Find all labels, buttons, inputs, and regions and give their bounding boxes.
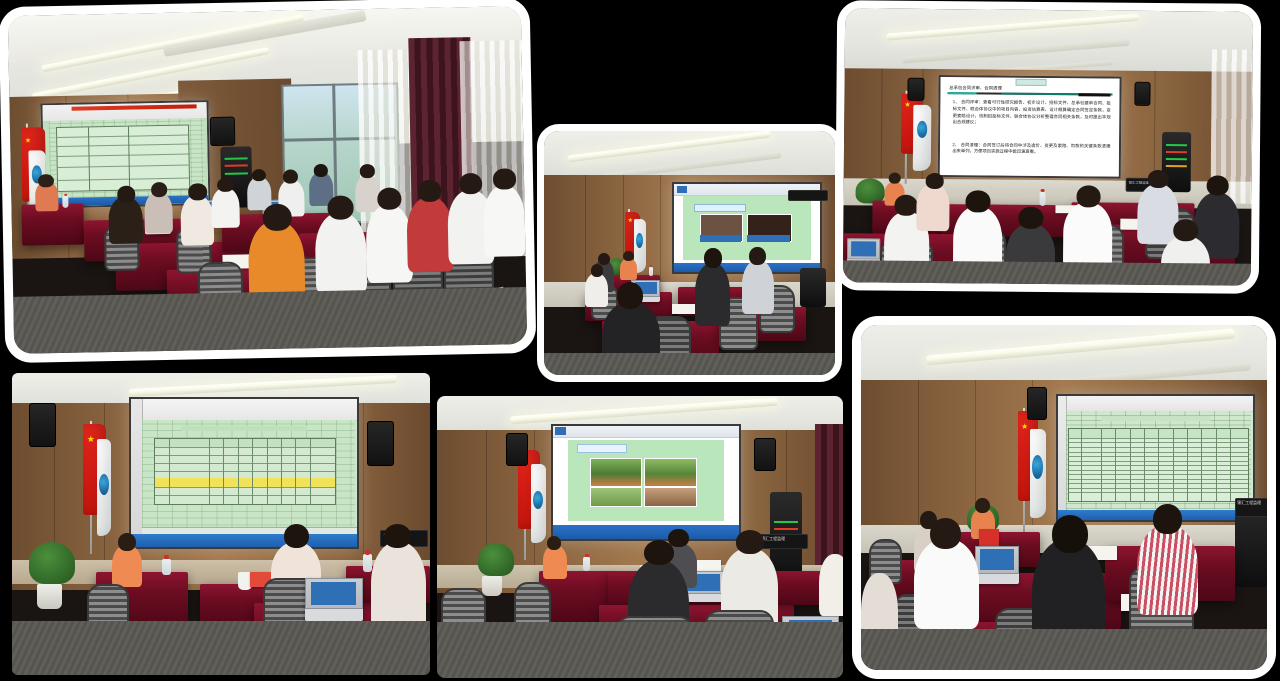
photo-caption-4: 屏幕展示工程现场航拍图片文档，学员使用笔记本电脑记录 [0, 0, 1, 1]
photo-top-right-scene: 总承包合同评审、合同清理 1、 合同评审：查看可行性研究报告、初步设计、招标文件… [843, 8, 1253, 286]
projection-screen: 总承包合同评审、合同清理 1、 合同评审：查看可行性研究报告、初步设计、招标文件… [938, 75, 1122, 179]
photo-top-left-scene: ★ [8, 6, 527, 354]
wall-sign-text: 锦汇工程监理 [1237, 500, 1261, 506]
photo-bottom-right-scene: ★ 锦汇工程监理 [861, 325, 1267, 670]
slide-para-1-text: 合同评审：查看可行性研究报告、初步设计、招标文件、总承包建审合同、投标文件、联合… [953, 100, 1111, 125]
photo-card-bottom-right[interactable]: ★ 锦汇工程监理 [852, 316, 1276, 679]
photo-caption-0: 会议室全景 — 参会人员面向大屏幕，屏幕显示绿色底色的表格文档 [0, 0, 1, 1]
photo-top-middle-scene: ★ [544, 131, 835, 375]
projection-screen [551, 424, 742, 541]
wall-sign-text: 锦汇工程监理 [761, 536, 785, 542]
wall-sign: 锦汇工程监理 [1235, 498, 1267, 517]
photo-card-bottom-middle[interactable]: ★ 锦汇工程监理 [434, 393, 846, 681]
wall-sign: 锦汇工程监理 [758, 534, 809, 549]
photo-card-top-middle[interactable]: ★ [537, 124, 842, 382]
projection-screen [129, 397, 359, 549]
photo-caption-3: 讲台讲解人与屏幕表格：项目评审结果汇总表（对勾/叉号矩阵） [0, 0, 1, 1]
photo-card-bottom-left[interactable]: ★ 锦汇工程监理 [10, 371, 432, 677]
collage-title: 会议培训现场照片组图 [0, 0, 1, 1]
slide-paragraph-2: 2、 合同清理：合同签订后将合同中涉及造价、变更及索赔、司款的关键条款清理出来单… [952, 142, 1110, 157]
photo-caption-5: 屏幕显示绿色底色数据汇总表，前排学员使用笔记本电脑 [0, 0, 1, 1]
photo-card-top-right[interactable]: 总承包合同评审、合同清理 1、 合同评审：查看可行性研究报告、初步设计、招标文件… [835, 0, 1262, 294]
photo-bottom-left-scene: ★ 锦汇工程监理 [12, 373, 430, 675]
collage-canvas: ★ [0, 0, 1280, 681]
slide-para-2-number: 2 [952, 142, 954, 147]
photo-bottom-middle-scene: ★ 锦汇工程监理 [437, 396, 843, 678]
projection-screen [1056, 394, 1255, 522]
wall-sign-text: 锦汇工程监理 [1129, 180, 1149, 185]
slide-para-1-number: 1 [953, 100, 955, 105]
photo-card-top-left[interactable]: ★ [0, 0, 536, 363]
slide-para-2-text: 合同清理：合同签订后将合同中涉及造价、变更及索赔、司款的关键条款清理出来单列，方… [952, 142, 1110, 154]
slide-title: 总承包合同评审、合同清理 [949, 85, 1002, 91]
photo-caption-2: 屏幕投影PPT：总承包合同评审、合同清理 [0, 0, 1, 1]
photo-caption-1: 主持人台前讲解，屏幕显示工程现场照片对比页面 [0, 0, 1, 1]
slide-paragraph-1: 1、 合同评审：查看可行性研究报告、初步设计、招标文件、总承包建审合同、投标文件… [953, 100, 1111, 128]
